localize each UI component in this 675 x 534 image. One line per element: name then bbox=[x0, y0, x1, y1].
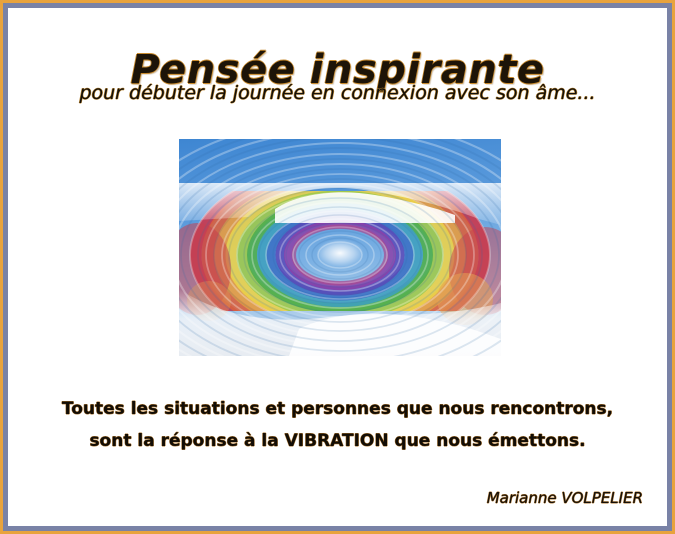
page-subtitle: pour débuter la journée en connexion ave… bbox=[8, 82, 667, 104]
slide-inner-border: Pensée inspirante pour débuter la journé… bbox=[3, 3, 672, 531]
quote-line-1: Toutes les situations et personnes que n… bbox=[8, 393, 667, 425]
quote-line-2: sont la réponse à la VIBRATION que nous … bbox=[8, 425, 667, 457]
rainbow-ripple-illustration bbox=[179, 139, 501, 356]
slide-canvas: Pensée inspirante pour débuter la journé… bbox=[8, 8, 667, 526]
rainbow-ripple-image bbox=[179, 139, 501, 356]
slide-outer-frame: Pensée inspirante pour débuter la journé… bbox=[0, 0, 675, 534]
quote-text: Toutes les situations et personnes que n… bbox=[8, 393, 667, 457]
author-attribution: Marianne VOLPELIER bbox=[487, 489, 643, 507]
